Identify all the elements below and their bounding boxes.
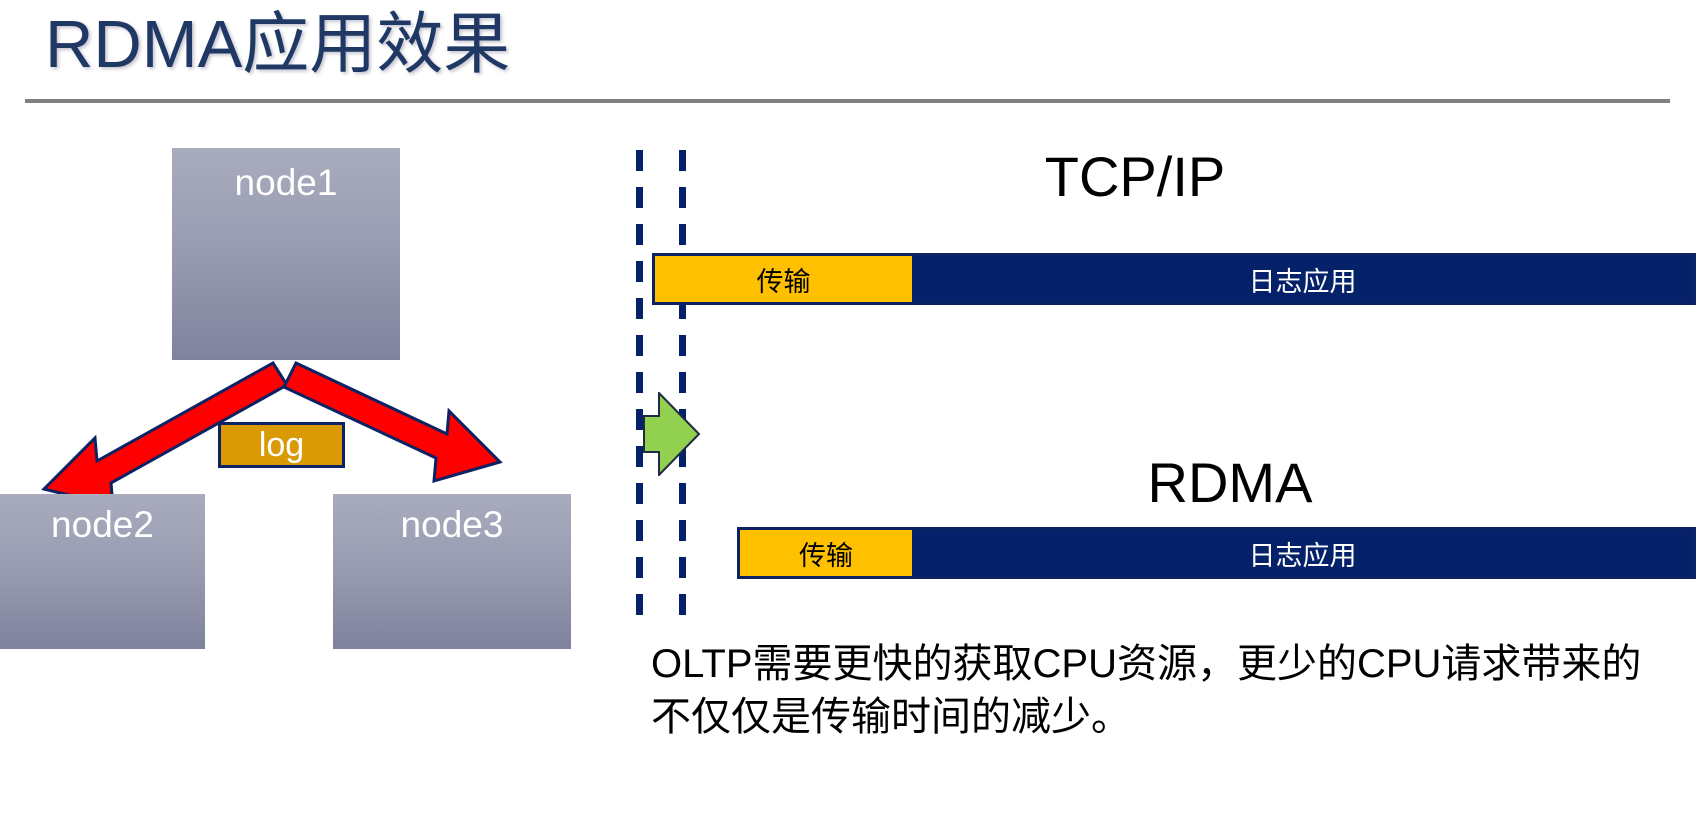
log-label: log	[259, 426, 304, 464]
caption-text: OLTP需要更快的获取CPU资源，更少的CPU请求带来的不仅仅是传输时间的减少。	[651, 638, 1661, 744]
tcp-protocol-label: TCP/IP	[935, 146, 1335, 208]
tcp-timeline-bar: 传输 日志应用	[652, 253, 1696, 305]
timeline-marker-start	[636, 150, 643, 627]
improvement-arrow-icon	[641, 392, 701, 476]
node2-label: node2	[51, 504, 154, 545]
node1-box: node1	[172, 148, 400, 360]
rdma-timeline-bar: 传输 日志应用	[737, 527, 1696, 579]
tcp-application-segment: 日志应用	[912, 256, 1693, 302]
rdma-transport-segment: 传输	[740, 530, 912, 576]
page-title: RDMA应用效果	[45, 3, 510, 87]
node3-label: node3	[401, 504, 504, 545]
node2-box: node2	[0, 494, 205, 649]
node3-box: node3	[333, 494, 571, 649]
title-divider	[25, 99, 1670, 103]
node1-label: node1	[235, 162, 338, 203]
rdma-protocol-label: RDMA	[1030, 452, 1430, 514]
log-box: log	[218, 422, 345, 468]
timeline-marker-second	[679, 150, 686, 627]
rdma-application-segment: 日志应用	[912, 530, 1693, 576]
slide-canvas: RDMA应用效果 node1 log node2 node3 TCP/IP 传输…	[0, 0, 1696, 826]
tcp-transport-segment: 传输	[655, 256, 912, 302]
